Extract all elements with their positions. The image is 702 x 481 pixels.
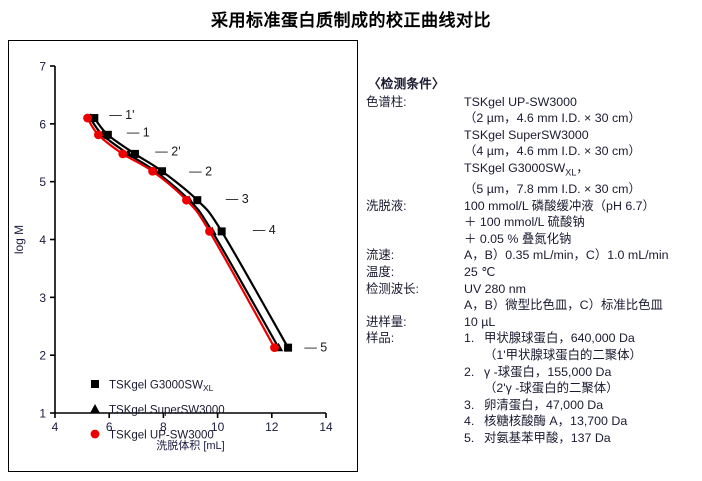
sample-text: γ -球蛋白，155,000 Da: [484, 364, 611, 381]
y-tick-label: 1: [39, 407, 46, 421]
y-tick-label: 3: [39, 291, 46, 305]
sample-item: 3.卵清蛋白，47,000 Da: [464, 397, 700, 414]
y-axis-label: log M: [12, 225, 26, 254]
sample-line: （1'甲状腺球蛋白的二聚体）: [364, 347, 700, 364]
analysis-conditions-panel: 〈检测条件〉 色谱柱:TSKgel UP-SW3000（2 µm，4.6 mm …: [364, 76, 700, 447]
condition-value: ＋ 0.05 % 叠氮化钠: [464, 231, 700, 248]
condition-value: TSKgel UP-SW3000: [464, 94, 700, 111]
legend-label-1: TSKgel SuperSW3000: [109, 405, 225, 417]
sample-text: 甲状腺球蛋白，640,000 Da: [484, 330, 635, 347]
legend-marker-triangle: [90, 404, 100, 413]
sample-item: 2.γ -球蛋白，155,000 Da: [464, 364, 700, 381]
chart-panel: 1234567468101214洗脱体积 [mL]log M— 1'— 1— 2…: [8, 40, 358, 472]
condition-value: （4 µm，4.6 mm I.D. × 30 cm）: [464, 143, 700, 160]
legend-subscript: XL: [203, 383, 214, 393]
sample-number: 5.: [464, 430, 484, 447]
peak-annotation-3: — 2: [189, 164, 212, 178]
legend-marker-square: [91, 380, 99, 388]
peak-annotation-6: — 5: [304, 341, 327, 355]
data-point-circle: [270, 343, 279, 352]
sample-subnote: （1'甲状腺球蛋白的二聚体）: [464, 347, 700, 364]
sample-text: 卵清蛋白，47,000 Da: [484, 397, 603, 414]
data-point-square: [284, 344, 292, 352]
sample-line: 样品:1.甲状腺球蛋白，640,000 Da: [364, 330, 700, 347]
data-point-circle: [83, 114, 92, 123]
sample-number: 3.: [464, 397, 484, 414]
condition-value: TSKgel G3000SWXL，: [464, 160, 700, 181]
sample-text: 对氨基苯甲酸，137 Da: [484, 430, 611, 447]
conditions-heading: 〈检测条件〉: [368, 76, 700, 93]
y-tick-label: 2: [39, 349, 46, 363]
condition-label: 流速:: [364, 247, 464, 264]
condition-label: 进样量:: [364, 314, 464, 331]
peak-annotation-2: — 2': [155, 145, 180, 159]
condition-line: （2 µm，4.6 mm I.D. × 30 cm）: [364, 110, 700, 127]
legend-label-2: TSKgel UP-SW3000: [109, 430, 214, 442]
legend-marker-circle: [91, 430, 100, 439]
series-line-2: [88, 118, 275, 348]
sample-number: 1.: [464, 330, 484, 347]
data-point-circle: [118, 150, 127, 159]
condition-line: （5 µm，7.8 mm I.D. × 30 cm）: [364, 181, 700, 198]
peak-annotation-0: — 1': [109, 108, 134, 122]
subscript-text: XL: [565, 167, 576, 177]
sample-line: 2.γ -球蛋白，155,000 Da: [364, 364, 700, 381]
condition-line: 进样量:10 µL: [364, 314, 700, 331]
sample-number: 2.: [464, 364, 484, 381]
condition-line: TSKgel SuperSW3000: [364, 127, 700, 144]
peak-annotation-5: — 4: [253, 223, 276, 237]
sample-item: （1'甲状腺球蛋白的二聚体）: [464, 347, 700, 364]
sample-item: （2'γ -球蛋白的二聚体）: [464, 380, 700, 397]
sample-line: 3.卵清蛋白，47,000 Da: [364, 397, 700, 414]
condition-line: （4 µm，4.6 mm I.D. × 30 cm）: [364, 143, 700, 160]
sample-item: 5.对氨基苯甲酸，137 Da: [464, 430, 700, 447]
data-point-circle: [205, 227, 214, 236]
condition-line: 温度:25 ℃: [364, 264, 700, 281]
condition-value: （2 µm，4.6 mm I.D. × 30 cm）: [464, 110, 700, 127]
sample-number: 4.: [464, 413, 484, 430]
condition-value: 10 µL: [464, 314, 700, 331]
legend-label-0: TSKgel G3000SWXL: [109, 380, 214, 394]
condition-label: 洗脱液:: [364, 198, 464, 215]
condition-line: ＋ 0.05 % 叠氮化钠: [364, 231, 700, 248]
x-tick-label: 14: [319, 420, 333, 434]
calibration-curve-chart: 1234567468101214洗脱体积 [mL]log M— 1'— 1— 2…: [9, 41, 357, 471]
condition-value: 100 mmol/L 磷酸缓冲液（pH 6.7）: [464, 198, 700, 215]
condition-value: （5 µm，7.8 mm I.D. × 30 cm）: [464, 181, 700, 198]
condition-label: 温度:: [364, 264, 464, 281]
data-point-circle: [182, 196, 191, 205]
condition-line: ＋ 100 mmol/L 硫酸钠: [364, 214, 700, 231]
condition-line: 检测波长:UV 280 nm: [364, 281, 700, 298]
sample-line: 4.核糖核酸酶 A，13,700 Da: [364, 413, 700, 430]
data-point-square: [193, 196, 201, 204]
data-point-circle: [94, 130, 103, 139]
data-point-square: [218, 227, 226, 235]
condition-value: A，B）微型比色皿，C）标准比色皿: [464, 297, 700, 314]
y-tick-label: 5: [39, 175, 46, 189]
condition-value: UV 280 nm: [464, 281, 700, 298]
condition-value: 25 ℃: [464, 264, 700, 281]
condition-label: 检测波长:: [364, 281, 464, 298]
condition-value: TSKgel SuperSW3000: [464, 127, 700, 144]
peak-annotation-4: — 3: [226, 192, 249, 206]
sample-subnote: （2'γ -球蛋白的二聚体）: [464, 380, 700, 397]
sample-line: （2'γ -球蛋白的二聚体）: [364, 380, 700, 397]
peak-annotation-1: — 1: [127, 126, 150, 140]
samples-block: 样品:1.甲状腺球蛋白，640,000 Da（1'甲状腺球蛋白的二聚体）2.γ …: [364, 330, 700, 446]
condition-value: A，B）0.35 mL/min，C）1.0 mL/min: [464, 247, 700, 264]
y-tick-label: 7: [39, 60, 46, 74]
conditions-rows: 色谱柱:TSKgel UP-SW3000（2 µm，4.6 mm I.D. × …: [364, 94, 700, 331]
condition-value: ＋ 100 mmol/L 硫酸钠: [464, 214, 700, 231]
sample-text: 核糖核酸酶 A，13,700 Da: [484, 413, 627, 430]
condition-line: A，B）微型比色皿，C）标准比色皿: [364, 297, 700, 314]
x-tick-label: 12: [265, 420, 279, 434]
series-2: [83, 114, 279, 352]
condition-line: 色谱柱:TSKgel UP-SW3000: [364, 94, 700, 111]
condition-line: TSKgel G3000SWXL，: [364, 160, 700, 181]
sample-item: 4.核糖核酸酶 A，13,700 Da: [464, 413, 700, 430]
sample-item: 1.甲状腺球蛋白，640,000 Da: [464, 330, 700, 347]
condition-line: 洗脱液:100 mmol/L 磷酸缓冲液（pH 6.7）: [364, 198, 700, 215]
series-line-1: [90, 118, 278, 348]
condition-label: 色谱柱:: [364, 94, 464, 111]
data-point-circle: [148, 167, 157, 176]
y-tick-label: 6: [39, 117, 46, 131]
y-tick-label: 4: [39, 233, 46, 247]
sample-line: 5.对氨基苯甲酸，137 Da: [364, 430, 700, 447]
page-title: 采用标准蛋白质制成的校正曲线对比: [0, 6, 702, 31]
sample-section-label: 样品:: [364, 330, 464, 347]
condition-line: 流速:A，B）0.35 mL/min，C）1.0 mL/min: [364, 247, 700, 264]
x-tick-label: 4: [52, 420, 59, 434]
